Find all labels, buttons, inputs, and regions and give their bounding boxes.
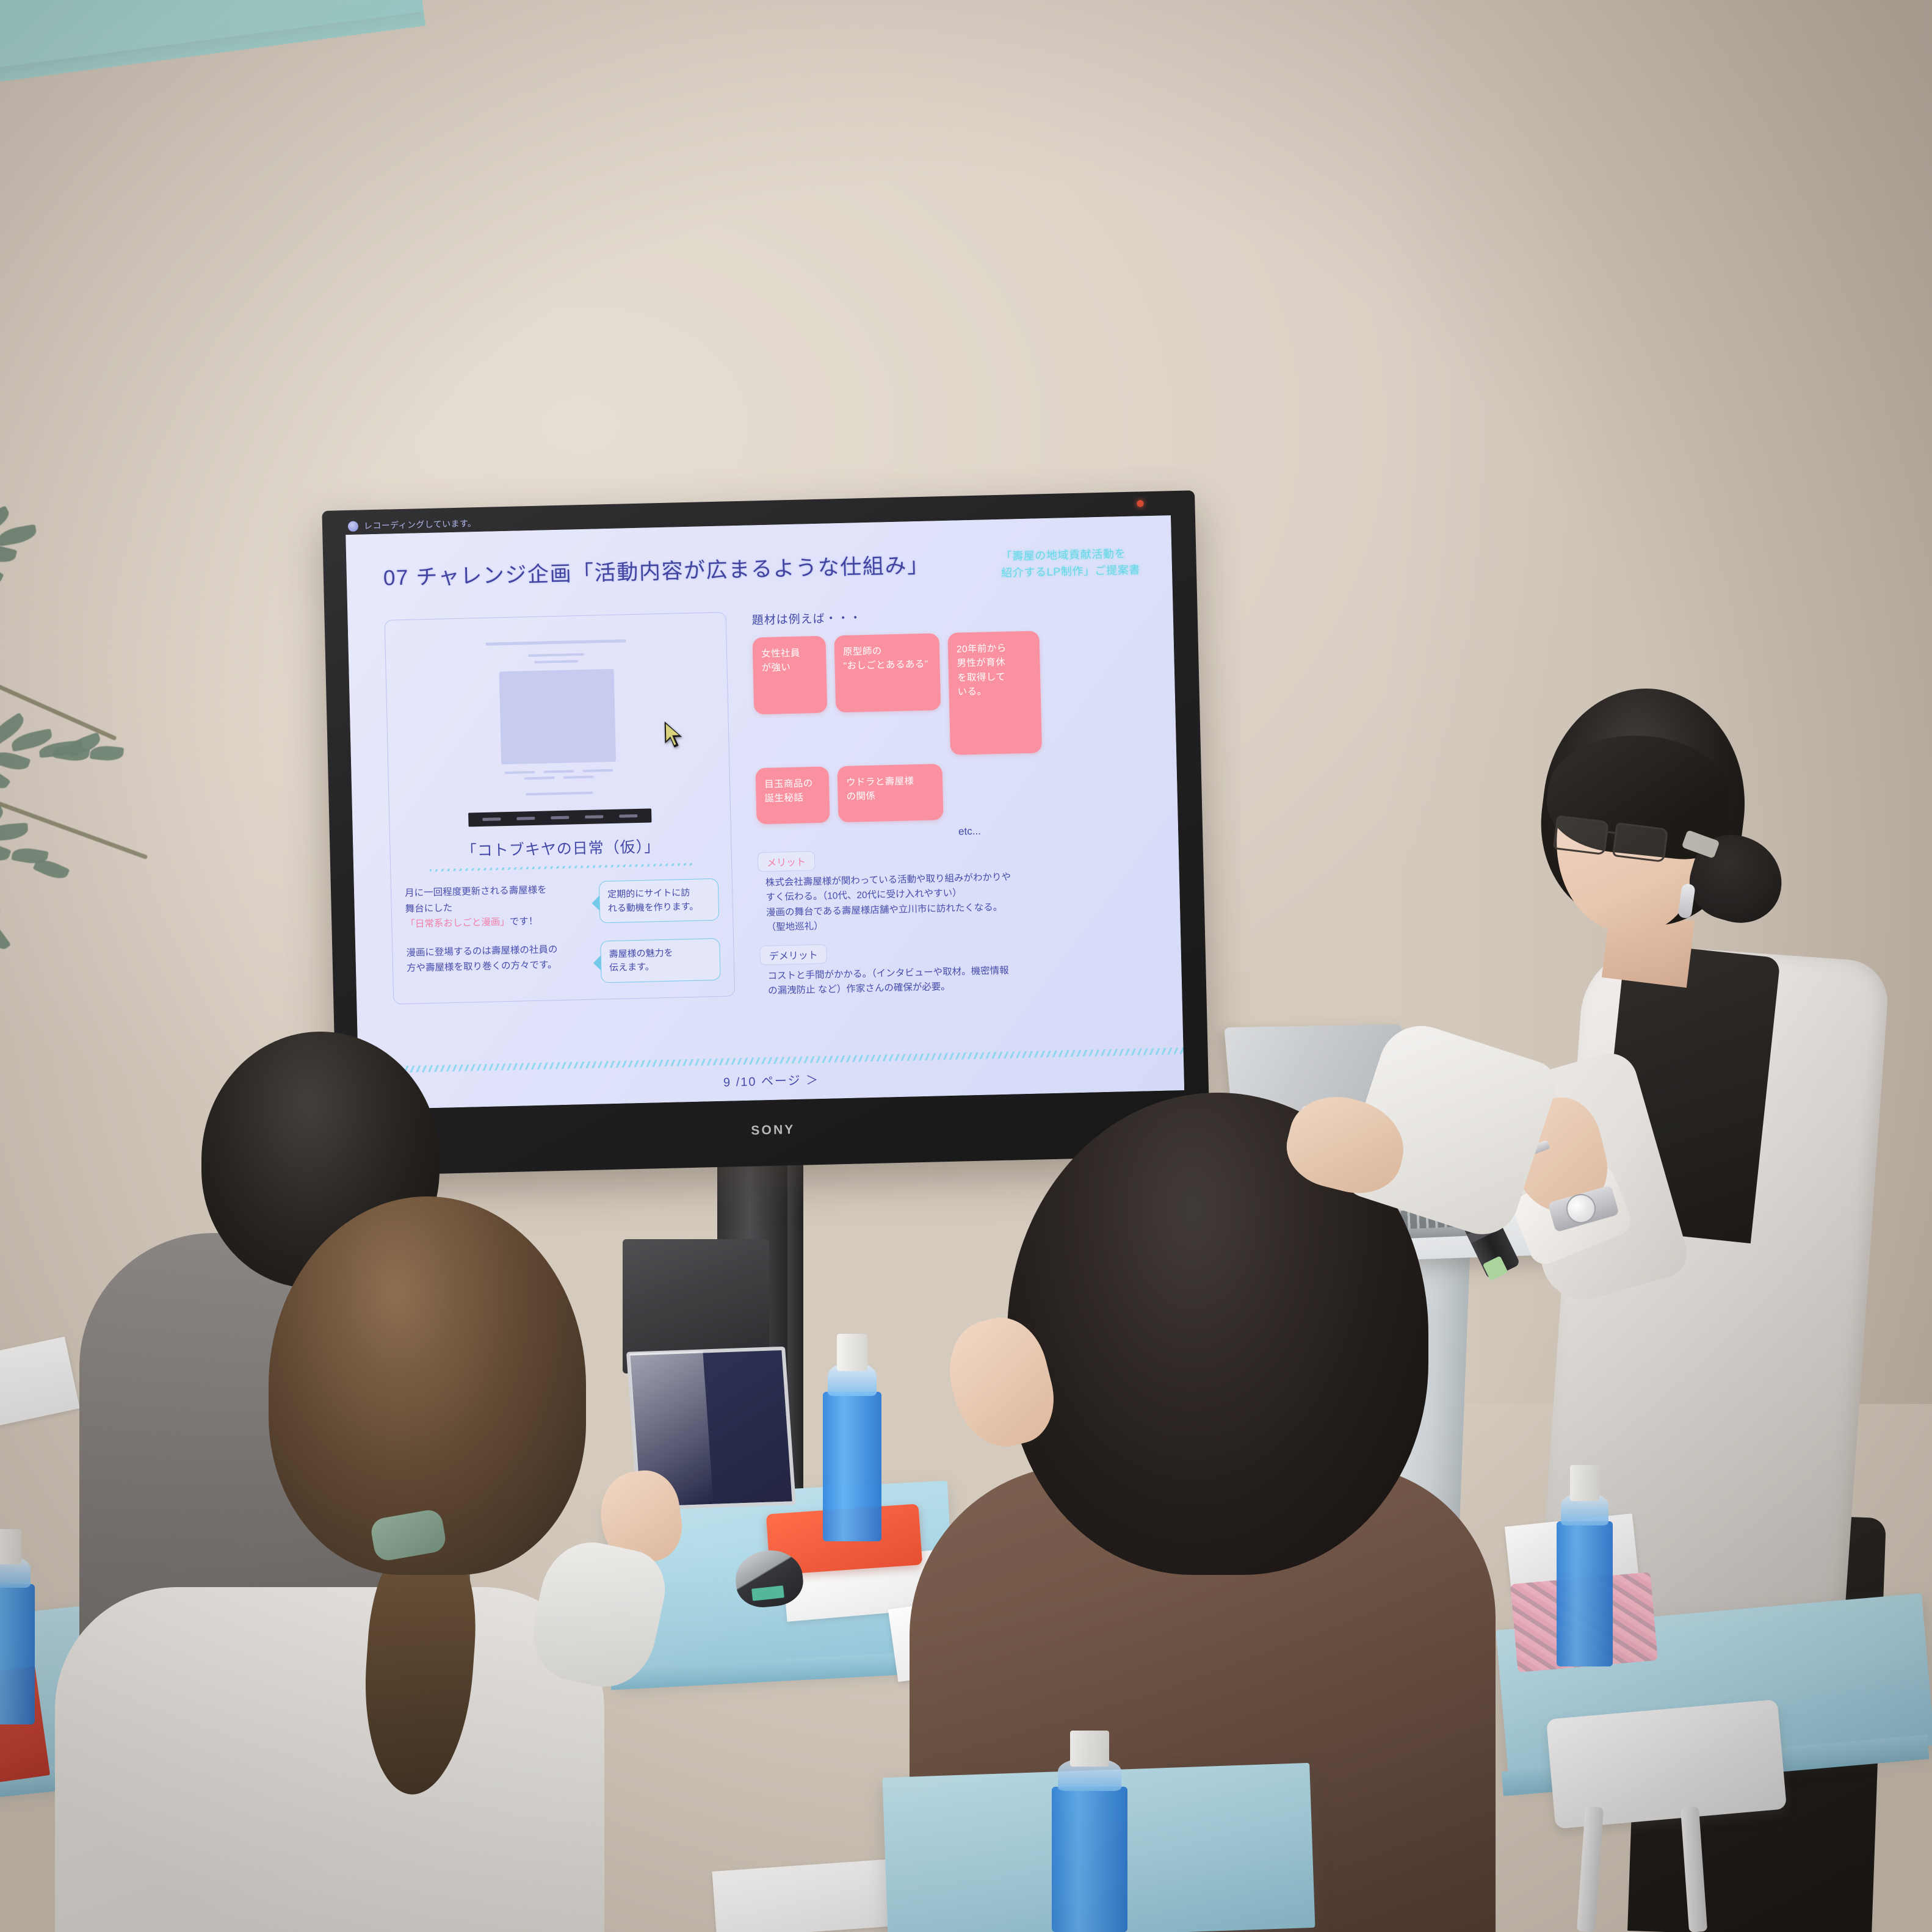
bottle-cap <box>0 1529 21 1565</box>
topic-line: の関係 <box>846 788 935 805</box>
bottle-cap <box>1570 1465 1599 1501</box>
slide-columns: 「コトブキヤの日常（仮）」 月に一回程度更新される壽屋様を 舞台にした 「日常系… <box>385 602 1151 1008</box>
topic-line: 男性が育休 <box>957 655 1032 671</box>
water-bottle <box>1052 1731 1127 1932</box>
presentation-room-photo: レコーディングしています。 07 チャレンジ企画「活動内容が広まるような仕組み」… <box>0 0 1932 1932</box>
water-bottle <box>1557 1465 1613 1666</box>
bottle-body <box>1052 1787 1127 1932</box>
presentation-slide: 07 チャレンジ企画「活動内容が広まるような仕組み」 「壽屋の地域貢献活動を 紹… <box>346 515 1184 1110</box>
header-line-2: 紹介するLP制作」ご提案書 <box>1001 562 1140 582</box>
merit-tag: メリット <box>758 851 816 872</box>
demerit-section: デメリット コストと手間がかかる。（インタビューや取材。機密情報 の漏洩防止 な… <box>759 936 1150 999</box>
attendee-left-front-body <box>55 1587 604 1932</box>
demerit-tag: デメリット <box>759 944 827 965</box>
left-row-2: 漫画に登場するのは壽屋様の社員の 方や壽屋様を取り巻くの方々です。 壽屋様の魅力… <box>406 938 720 988</box>
callout-2-line2: 伝えます。 <box>609 959 712 975</box>
slide-title: 07 チャレンジ企画「活動内容が広まるような仕組み」 <box>383 548 930 592</box>
zigzag-divider <box>430 863 692 872</box>
left-paragraph-2: 漫画に登場するのは壽屋様の社員の 方や壽屋様を取り巻くの方々です。 <box>406 941 592 976</box>
water-bottle <box>0 1529 35 1724</box>
topic-line: 誕生秘話 <box>764 791 821 806</box>
glasses-lens-right <box>1612 822 1668 863</box>
mockup-card: 「コトブキヤの日常（仮）」 月に一回程度更新される壽屋様を 舞台にした 「日常系… <box>385 612 736 1004</box>
mockup-caption: 「コトブキヤの日常（仮）」 <box>461 834 660 861</box>
site-mockup <box>465 639 651 797</box>
topic-line: 原型師の <box>843 643 932 659</box>
topic-line: を取得して <box>957 669 1032 685</box>
topic-line: 目玉商品の <box>764 776 821 792</box>
topics-lead: 題材は例えば・・・ <box>751 602 1141 628</box>
left-p1-highlight: 「日常系おしごと漫画」 <box>405 917 510 930</box>
bottle-cap <box>837 1334 867 1371</box>
bottle-cap <box>1070 1731 1109 1767</box>
callout-1: 定期的にサイトに訪 れる動機を作ります。 <box>599 878 720 924</box>
left-paragraph-1: 月に一回程度更新される壽屋様を 舞台にした 「日常系おしごと漫画」です！ <box>405 881 592 932</box>
topic-line: 女性社員 <box>761 646 818 662</box>
topic-line: が強い <box>761 660 818 676</box>
mockup-image-block <box>499 669 617 764</box>
slide-left-column: 「コトブキヤの日常（仮）」 月に一回程度更新される壽屋様を 舞台にした 「日常系… <box>385 612 736 1008</box>
callout-2: 壽屋様の魅力を 伝えます。 <box>600 938 721 983</box>
topic-line: 20年前から <box>957 640 1032 656</box>
slide-right-column: 題材は例えば・・・ 女性社員 が強い 原型師の "おしごとあるある" <box>744 602 1150 999</box>
left-p1-tail: です！ <box>510 916 538 927</box>
record-dot-icon <box>348 521 358 531</box>
mockup-footer-strip <box>468 808 651 827</box>
water-bottle <box>823 1334 881 1541</box>
slide-header-right: 「壽屋の地域貢献活動を 紹介するLP制作」ご提案書 <box>1000 543 1140 582</box>
topic-box: 女性社員 が強い <box>752 635 827 714</box>
merit-section: メリット 株式会社壽屋様が関わっている活動や取り組みがわかりや すく伝わる。（1… <box>758 843 1149 936</box>
chair[interactable] <box>1546 1699 1787 1829</box>
sony-brand-label: SONY <box>751 1123 795 1138</box>
left-row-1: 月に一回程度更新される壽屋様を 舞台にした 「日常系おしごと漫画」です！ 定期的… <box>405 878 720 932</box>
etc-label: etc... <box>958 821 1146 838</box>
topic-box: 原型師の "おしごとあるある" <box>834 633 941 712</box>
tv-screen: 07 チャレンジ企画「活動内容が広まるような仕組み」 「壽屋の地域貢献活動を 紹… <box>346 515 1184 1110</box>
slide-footer: 9 /10 ページ ＞ <box>358 1047 1184 1099</box>
topic-line: いる。 <box>957 684 1032 700</box>
bottle-body <box>0 1584 35 1724</box>
glasses-lens-left <box>1553 815 1609 855</box>
topic-box: ウドラと壽屋様 の関係 <box>837 764 943 822</box>
topic-box-grid: 女性社員 が強い 原型師の "おしごとあるある" 20年前から 男性が育休 を取… <box>752 629 1098 824</box>
merit-body: 株式会社壽屋様が関わっている活動や取り組みがわかりや すく伝わる。（10代、20… <box>758 867 1149 936</box>
bottle-body <box>823 1392 881 1541</box>
callout-1-line2: れる動機を作ります。 <box>608 900 711 916</box>
topic-line: ウドラと壽屋様 <box>846 773 935 790</box>
topic-box: 20年前から 男性が育休 を取得して いる。 <box>947 631 1042 754</box>
topic-line: "おしごとあるある" <box>843 657 932 674</box>
slide-header: 07 チャレンジ企画「活動内容が広まるような仕組み」 「壽屋の地域貢献活動を 紹… <box>383 543 1140 596</box>
paper-sheet <box>712 1858 906 1932</box>
demerit-body: コストと手間がかかる。（インタビューや取材。機密情報 の漏洩防止 など）作家さん… <box>760 960 1150 999</box>
potted-plant <box>0 507 177 1013</box>
sony-display: レコーディングしています。 07 チャレンジ企画「活動内容が広まるような仕組み」… <box>322 490 1210 1176</box>
topic-box: 目玉商品の 誕生秘話 <box>755 766 830 824</box>
bottle-body <box>1557 1521 1613 1666</box>
